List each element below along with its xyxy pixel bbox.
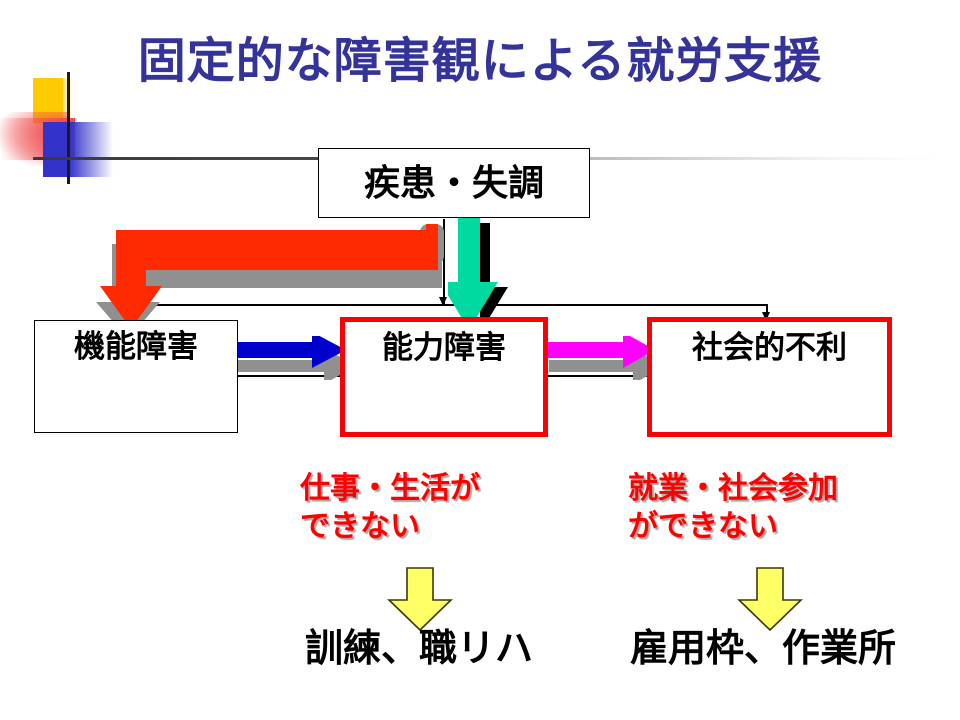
outcome-employment-quota-workshop: 雇用枠、作業所 [630, 630, 896, 668]
yellow-down-arrow-left [385, 566, 455, 632]
box-social-handicap[interactable]: 社会的不利 [647, 317, 892, 437]
box-impairment[interactable]: 機能障害 [34, 320, 238, 433]
box-handicap-label: 社会的不利 [692, 332, 847, 432]
box-disease[interactable]: 疾患・失調 [318, 148, 590, 218]
blue-right-arrow [226, 336, 356, 380]
page-title: 固定的な障害観による就労支援 [0, 36, 960, 89]
caption-work-life: 仕事・生活が できない [300, 470, 480, 547]
yellow-down-arrow-right [735, 566, 805, 632]
outcome-training-vocational-rehab: 訓練、職リハ [305, 630, 533, 668]
box-activity-label: 能力障害 [382, 332, 506, 432]
box-impairment-label: 機能障害 [74, 331, 198, 432]
box-activity-limitation[interactable]: 能力障害 [340, 317, 548, 437]
decoration-vertical-rule [67, 72, 70, 184]
green-down-arrow [448, 218, 516, 333]
slide-canvas: 固定的な障害観による就労支援 [0, 0, 960, 720]
box-disease-label: 疾患・失調 [364, 165, 544, 201]
caption-employment-participation: 就業・社会参加 ができない [628, 470, 838, 547]
decoration-blue-core [43, 122, 65, 177]
